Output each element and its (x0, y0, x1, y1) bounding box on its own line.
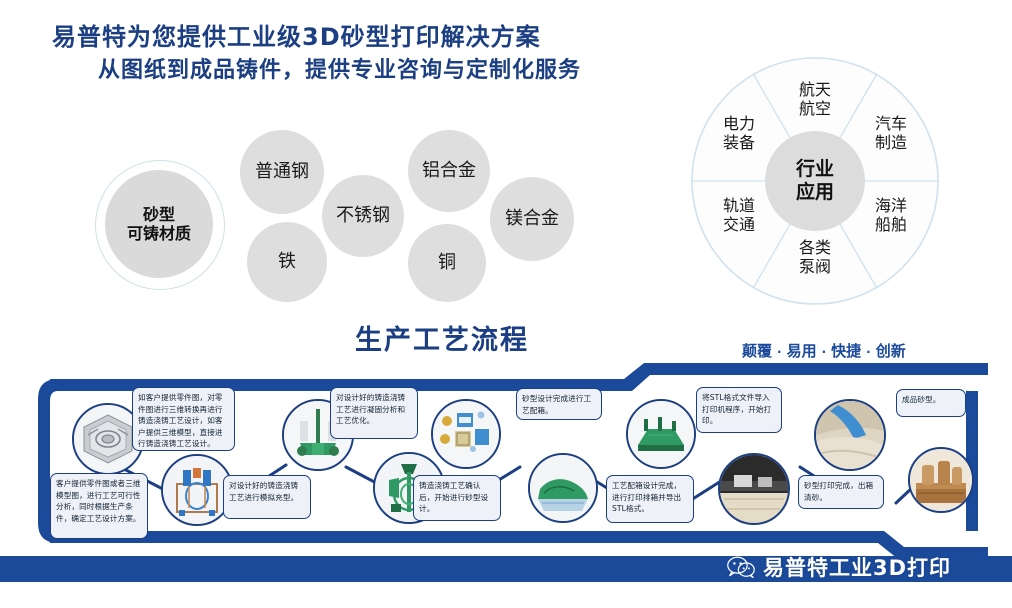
material-bubble-carbon-steel[interactable]: 普通钢 (240, 130, 324, 214)
material-bubble-iron[interactable]: 铁 (247, 222, 327, 302)
segment-label-line1: 轨道 (708, 196, 770, 215)
section-title-production-process: 生产工艺流程 (355, 318, 529, 357)
segment-label-line2: 泵阀 (775, 257, 855, 276)
process-node-5[interactable] (431, 399, 501, 469)
header-title-line1: 易普特为您提供工业级3D砂型打印解决方案 (0, 20, 700, 54)
segment-label-line1: 航天 (775, 80, 855, 99)
depowder-icon (816, 401, 884, 469)
infographic-canvas: 易普特为您提供工业级3D砂型打印解决方案 从图纸到成品铸件，提供专业咨询与定制化… (0, 0, 1012, 608)
footer-brand[interactable]: 易普特工业3D打印 (726, 550, 951, 584)
core-bubble-castable-materials[interactable]: 砂型 可铸材质 (105, 170, 213, 278)
process-text-9: 砂型打印完成，出箱清砂。 (798, 475, 884, 509)
wheel-hub-line1: 行业 (796, 158, 834, 181)
process-text-4: 对设计好的铸造浇铸工艺进行凝固分析和工艺优化。 (330, 387, 418, 439)
process-text-1: 客户提供零件图或者三维模型图，进行工艺可行性分析，同时根据生产条件，确定工艺设计… (50, 473, 148, 539)
material-bubble-stainless-steel[interactable]: 不锈钢 (322, 175, 404, 257)
process-text-5: 铸造浇铸工艺确认后，开始进行砂型设计。 (413, 475, 501, 521)
process-node-6[interactable] (528, 453, 598, 523)
segment-label-line2: 船舶 (860, 215, 922, 234)
segment-label-line1: 各类 (775, 238, 855, 257)
core-bubble-label-line1: 砂型 (143, 205, 175, 224)
segment-label-line2: 装备 (708, 133, 770, 152)
segment-label-line2: 交通 (708, 215, 770, 234)
wheel-segment-marine[interactable]: 海洋 船舶 (860, 196, 922, 234)
wheel-segment-power-equipment[interactable]: 电力 装备 (708, 114, 770, 152)
process-text-8: 将STL格式文件导入打印机程序，开始打印。 (696, 387, 782, 433)
process-node-7[interactable] (626, 399, 696, 469)
wheel-segment-pumps-valves[interactable]: 各类 泵阀 (775, 238, 855, 276)
material-label: 普通钢 (255, 162, 309, 182)
segment-label-line1: 海洋 (860, 196, 922, 215)
wheel-segment-automotive[interactable]: 汽车 制造 (860, 114, 922, 152)
segment-label-line1: 电力 (708, 114, 770, 133)
wheel-hub: 行业 应用 (765, 131, 865, 231)
wheel-segment-aerospace[interactable]: 航天 航空 (775, 80, 855, 118)
sand-mold-design-icon (433, 401, 499, 467)
segment-label-line2: 航空 (775, 99, 855, 118)
material-label: 铁 (278, 252, 296, 272)
material-label: 镁合金 (505, 209, 559, 229)
gating-design-icon (163, 456, 231, 524)
material-label: 铝合金 (422, 161, 476, 181)
process-text-10: 成品砂型。 (896, 389, 966, 417)
header: 易普特为您提供工业级3D砂型打印解决方案 从图纸到成品铸件，提供专业咨询与定制化… (0, 20, 700, 88)
process-node-10[interactable] (908, 447, 974, 513)
segment-label-line2: 制造 (860, 133, 922, 152)
printer-icon (720, 455, 788, 523)
footer-brand-label: 易普特工业3D打印 (763, 552, 951, 582)
process-node-8[interactable] (718, 453, 790, 525)
material-label: 不锈钢 (336, 206, 390, 226)
mold-box-icon (530, 455, 596, 521)
process-text-2: 如客户提供零件图，对零件图进行三维转换再进行铸造浇铸工艺设计，如客户提供三维模型… (132, 387, 235, 451)
industry-application-wheel: 航天 航空 汽车 制造 海洋 船舶 各类 泵阀 轨道 交通 电力 装备 行业 应… (690, 56, 940, 306)
process-node-9[interactable] (814, 399, 886, 471)
wechat-icon (726, 555, 756, 579)
material-bubble-magnesium-alloy[interactable]: 镁合金 (490, 177, 574, 261)
material-bubble-aluminum-alloy[interactable]: 铝合金 (408, 130, 490, 212)
wheel-segment-rail-transit[interactable]: 轨道 交通 (708, 196, 770, 234)
segment-label-line1: 汽车 (860, 114, 922, 133)
process-text-6: 砂型设计完成进行工艺配箱。 (516, 388, 602, 420)
core-bubble-label-line2: 可铸材质 (127, 224, 191, 243)
print-nesting-icon (628, 401, 694, 467)
castable-materials-group: 砂型 可铸材质 普通钢 铁 不锈钢 铝合金 铜 镁合金 (95, 130, 595, 320)
material-label: 铜 (438, 253, 456, 273)
production-process-flow: 客户提供零件图或者三维模型图，进行工艺可行性分析，同时根据生产条件，确定工艺设计… (28, 355, 988, 565)
header-title-line2: 从图纸到成品铸件，提供专业咨询与定制化服务 (0, 54, 700, 88)
process-text-3: 对设计好的铸造浇铸工艺进行模拟充型。 (223, 475, 311, 519)
material-bubble-copper[interactable]: 铜 (408, 224, 486, 302)
finished-sand-mold-icon (910, 449, 972, 511)
process-text-7: 工艺配箱设计完成，进行打印排箱并导出STL格式。 (606, 475, 694, 523)
wheel-hub-line2: 应用 (796, 181, 834, 204)
